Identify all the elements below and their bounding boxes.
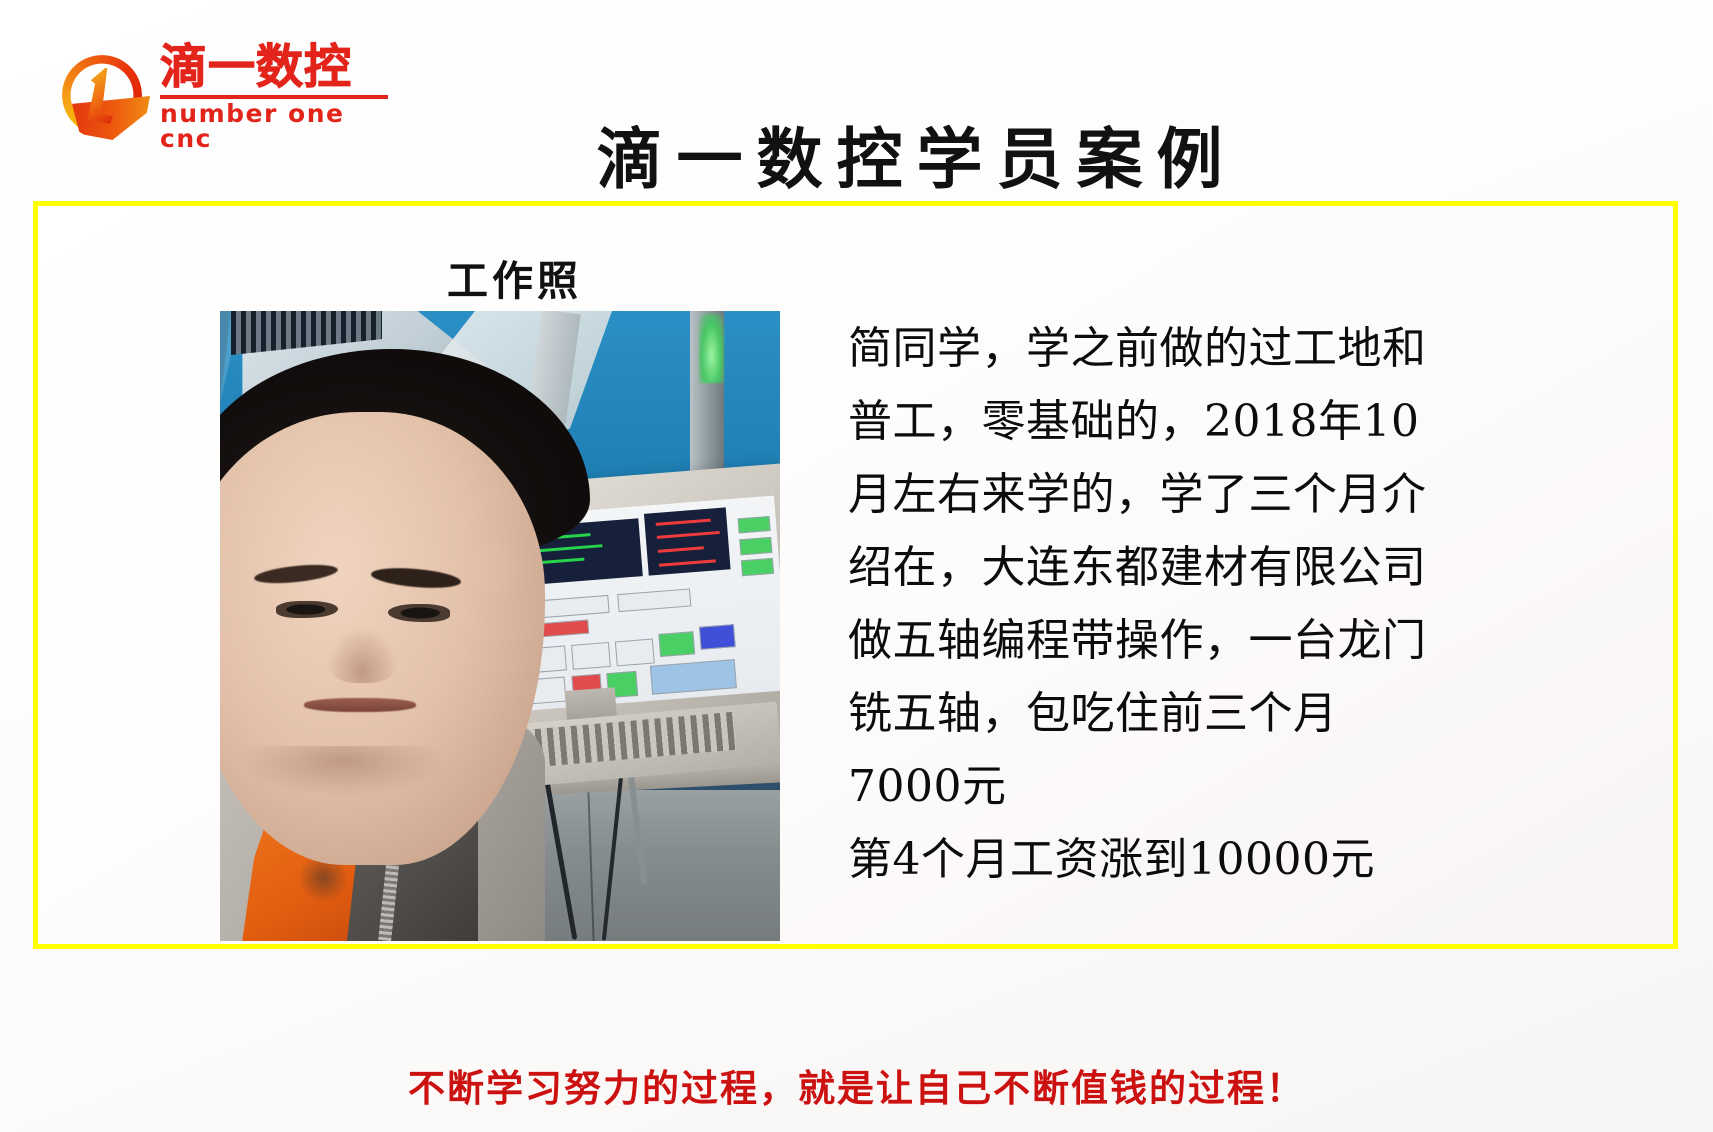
- case-text-line: 简同学，学之前做的过工地和: [848, 312, 1528, 385]
- photo-chin-shadow: [242, 746, 444, 796]
- case-text-line: 7000元: [848, 750, 1528, 823]
- work-photo-label: 工作照: [447, 247, 582, 307]
- work-photo: [220, 311, 780, 941]
- photo-mouth: [304, 698, 416, 712]
- case-description-text: 简同学，学之前做的过工地和 普工，零基础的，2018年10 月左右来学的，学了三…: [848, 312, 1528, 896]
- photo-green-indicator-light: [699, 314, 724, 383]
- case-text-line: 月左右来学的，学了三个月介: [848, 458, 1528, 531]
- case-text-line: 绍在，大连东都建材有限公司: [848, 531, 1528, 604]
- logo-chinese-name: 滴一数控: [160, 45, 388, 91]
- case-text-line: 普工，零基础的，2018年10: [848, 385, 1528, 458]
- logo-divider-rule: [160, 95, 388, 99]
- footer-slogan: 不断学习努力的过程，就是让自己不断值钱的过程！: [0, 1058, 1713, 1112]
- photo-nose: [326, 626, 399, 683]
- page-title: 滴一数控学员案例: [0, 106, 1713, 202]
- case-text-line: 做五轴编程带操作，一台龙门: [848, 604, 1528, 677]
- case-text-line: 第4个月工资涨到10000元: [848, 823, 1528, 896]
- case-text-line: 铣五轴，包吃住前三个月: [848, 677, 1528, 750]
